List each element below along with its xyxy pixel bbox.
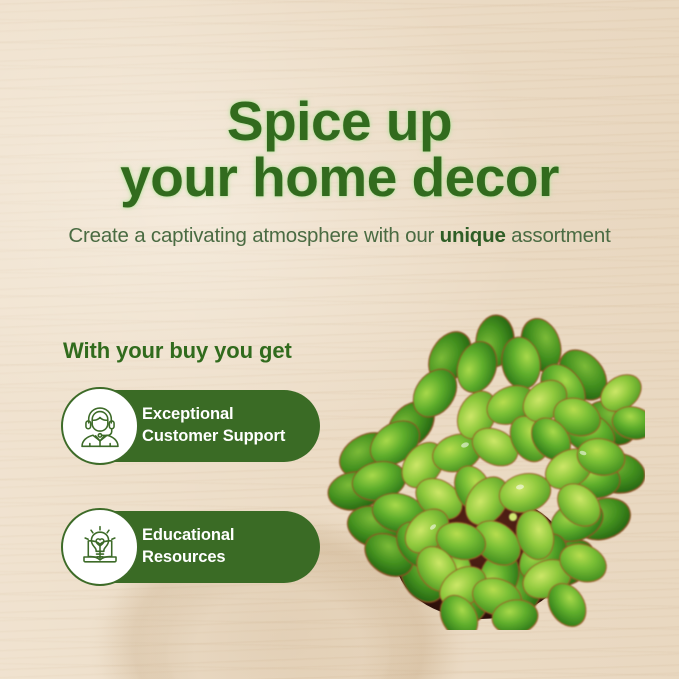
subtitle-prefix: Create a captivating atmosphere with our bbox=[68, 224, 439, 247]
benefit-pill-educational-resources: Educational Resources bbox=[62, 511, 320, 583]
lightbulb-book-idea-icon bbox=[61, 508, 139, 586]
jade-plant-photo bbox=[315, 305, 645, 630]
benefit-line-1: Exceptional bbox=[142, 404, 285, 426]
benefits-heading: With your buy you get bbox=[63, 338, 292, 364]
headline-line-1: Spice up bbox=[227, 90, 452, 152]
subtitle-emphasis: unique bbox=[440, 224, 506, 247]
benefit-label-educational-resources: Educational Resources bbox=[142, 525, 234, 569]
benefit-line-2: Customer Support bbox=[142, 426, 285, 448]
benefit-line-1: Educational bbox=[142, 525, 234, 547]
headline-line-2: your home decor bbox=[0, 149, 679, 206]
poster-canvas: Spice up your home decor Create a captiv… bbox=[0, 0, 679, 679]
benefit-line-2: Resources bbox=[142, 547, 234, 569]
page-title: Spice up your home decor bbox=[0, 93, 679, 206]
subtitle: Create a captivating atmosphere with our… bbox=[0, 224, 679, 248]
benefit-label-customer-support: Exceptional Customer Support bbox=[142, 404, 285, 448]
customer-support-headset-icon bbox=[61, 387, 139, 465]
benefit-pill-customer-support: Exceptional Customer Support bbox=[62, 390, 320, 462]
subtitle-suffix: assortment bbox=[506, 224, 611, 247]
